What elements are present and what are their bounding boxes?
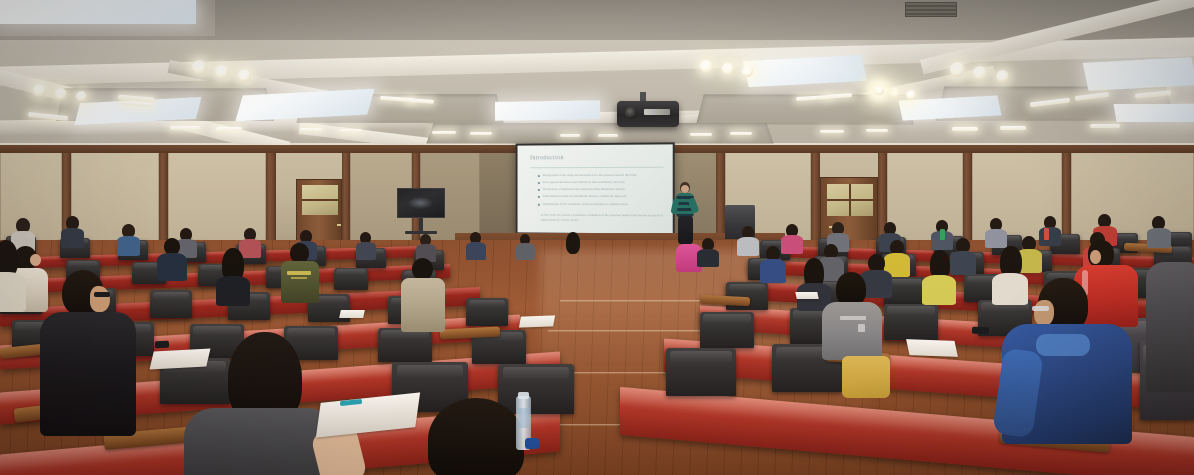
striplight-19 xyxy=(690,133,712,136)
thermos-flask xyxy=(940,229,945,240)
slide-bullet-text: Prior approaches have been limited by da… xyxy=(543,180,625,185)
hoodie-text xyxy=(840,316,866,320)
paper-handout xyxy=(795,292,818,299)
downlight-10 xyxy=(700,60,713,73)
hoodie-number xyxy=(858,324,865,332)
slide-bullet-text: Experimental results on benchmark datase… xyxy=(543,194,626,199)
bottle-label xyxy=(518,408,529,428)
air-vent-icon xyxy=(905,2,957,17)
monitor-stand-pole xyxy=(419,218,423,232)
striplight-11 xyxy=(170,126,200,130)
jacket-text-band-2 xyxy=(291,277,307,279)
downlight-12 xyxy=(742,66,753,77)
attendee-body xyxy=(0,272,26,312)
attendee-body xyxy=(737,237,759,256)
downlight-6 xyxy=(238,69,251,82)
door-mullion-right-v xyxy=(849,184,851,216)
attendee-body xyxy=(697,249,719,267)
projector-icon xyxy=(617,101,679,127)
paper-handout xyxy=(150,349,211,370)
striplight-20 xyxy=(730,132,752,135)
attendee-head xyxy=(566,232,580,254)
attendee-head xyxy=(412,258,433,280)
downlight-8 xyxy=(973,66,987,80)
attendee-body xyxy=(157,253,187,281)
glasses-icon xyxy=(94,292,110,297)
paper-handout xyxy=(519,315,555,327)
ceiling-panel-light-6 xyxy=(495,100,600,121)
smartphone xyxy=(155,341,169,349)
seat xyxy=(884,304,938,340)
striplight-14 xyxy=(340,129,362,132)
attendee-body xyxy=(61,228,84,248)
monitor-stand-base xyxy=(405,231,437,234)
projector-label xyxy=(644,109,670,115)
striplight-22 xyxy=(866,129,888,132)
striplight-23 xyxy=(952,127,978,131)
yellow-trousers xyxy=(842,356,890,398)
slide-bullet: Background of the study and motivation f… xyxy=(538,173,664,178)
presenter-legs xyxy=(678,216,693,244)
thermos-flask xyxy=(1044,228,1049,240)
slide-title: Introduction xyxy=(530,155,663,162)
slide-bullet: Prior approaches have been limited by da… xyxy=(538,180,664,185)
attendee-face xyxy=(1090,250,1101,264)
monitor-screen-glow xyxy=(408,197,433,208)
olive-jacket xyxy=(281,261,319,303)
striplight-21 xyxy=(820,130,844,133)
downlight-14 xyxy=(890,88,900,98)
downlight-15 xyxy=(906,90,916,100)
slide-bullet-text: Background of the study and motivation f… xyxy=(543,173,637,178)
ceiling-panel-light-3 xyxy=(743,55,868,87)
tan-jacket xyxy=(401,278,445,332)
slide-closing-paragraph: In this work we present a systematic eva… xyxy=(530,213,663,223)
attendee-body xyxy=(1039,227,1061,246)
striplight-24 xyxy=(1000,126,1026,130)
seat xyxy=(378,328,432,362)
seat xyxy=(334,268,368,290)
jacket-collar xyxy=(1036,334,1090,356)
seat xyxy=(498,364,574,414)
slide-bullet-text: Organisation of the remainder of this pr… xyxy=(543,201,628,206)
attendee-face xyxy=(1034,300,1054,326)
paper-handout xyxy=(339,310,365,318)
attendee-body xyxy=(466,242,486,260)
slide-surface: Introduction Background of the study and… xyxy=(518,144,673,233)
presenter xyxy=(672,182,698,244)
seat xyxy=(666,348,736,396)
ceiling-panel-light-7 xyxy=(1113,104,1194,122)
striplight-13 xyxy=(300,128,322,131)
grey-knit-body xyxy=(184,408,334,475)
ceiling-panel-light-0 xyxy=(0,0,196,24)
projection-screen: Introduction Background of the study and… xyxy=(516,142,675,235)
attendee-body xyxy=(356,242,376,260)
bottle-neck xyxy=(518,392,529,399)
slide-title-rule xyxy=(530,167,663,169)
projector-lens-icon xyxy=(625,107,637,119)
bottle-cap xyxy=(525,438,539,449)
jacket-text-band xyxy=(287,271,311,275)
slide-bullet-text: We propose a framework that addresses th… xyxy=(543,187,625,192)
ceiling xyxy=(0,0,1194,160)
attendee-body xyxy=(992,273,1028,305)
downlight-1 xyxy=(33,84,46,97)
striplight-12 xyxy=(216,127,242,131)
attendee-body xyxy=(781,235,803,254)
striplight-17 xyxy=(560,134,580,137)
wall-monitor[interactable] xyxy=(397,188,445,218)
slide-bullet-list: Background of the study and motivation f… xyxy=(530,173,663,207)
bullet-dot-icon xyxy=(538,189,540,191)
grey-hoodie xyxy=(822,302,882,360)
attendee-body xyxy=(950,251,976,275)
attendee-body xyxy=(516,243,535,260)
downlight-9 xyxy=(996,70,1009,83)
seat xyxy=(150,290,192,318)
smartphone xyxy=(972,327,989,335)
attendee-body xyxy=(1146,262,1194,392)
presenter-face xyxy=(681,185,689,193)
lecture-hall-photo: Introduction Background of the study and… xyxy=(0,0,1194,475)
paper-handout xyxy=(906,339,958,357)
striplight-16 xyxy=(470,132,492,135)
slide-bullet: We propose a framework that addresses th… xyxy=(538,187,664,192)
downlight-20 xyxy=(875,86,884,95)
seat xyxy=(466,298,508,326)
door-handle-left[interactable] xyxy=(337,224,341,226)
downlight-5 xyxy=(215,65,229,79)
bullet-dot-icon xyxy=(538,196,540,198)
attendee-body xyxy=(1147,228,1171,248)
attendee-head xyxy=(290,243,309,263)
striplight-15 xyxy=(432,131,456,134)
downlight-11 xyxy=(722,63,734,75)
attendee-body xyxy=(922,275,956,305)
attendee-body xyxy=(760,259,786,283)
downlight-4 xyxy=(192,60,207,75)
downlight-7 xyxy=(950,62,965,77)
glasses-icon xyxy=(1032,306,1049,311)
bullet-dot-icon xyxy=(538,175,540,177)
bullet-dot-icon xyxy=(538,182,540,184)
attendee-body xyxy=(216,276,250,306)
attendee-body xyxy=(117,236,140,256)
downlight-3 xyxy=(76,91,87,102)
attendee-face xyxy=(30,254,41,266)
downlight-2 xyxy=(55,88,67,100)
bullet-dot-icon xyxy=(538,203,540,205)
slide-bullet: Organisation of the remainder of this pr… xyxy=(538,201,664,206)
attendee-face xyxy=(90,286,110,312)
striplight-18 xyxy=(598,134,618,137)
attendee-body xyxy=(985,229,1007,248)
dark-suit-body xyxy=(40,312,136,436)
seat xyxy=(700,312,754,348)
attendee-head xyxy=(428,398,524,475)
slide-bullet: Experimental results on benchmark datase… xyxy=(538,194,664,199)
striplight-25 xyxy=(1090,124,1120,128)
door-mullion-left xyxy=(302,199,338,201)
ceiling-panel-light-4 xyxy=(1083,57,1194,91)
attendee-head xyxy=(836,272,866,306)
